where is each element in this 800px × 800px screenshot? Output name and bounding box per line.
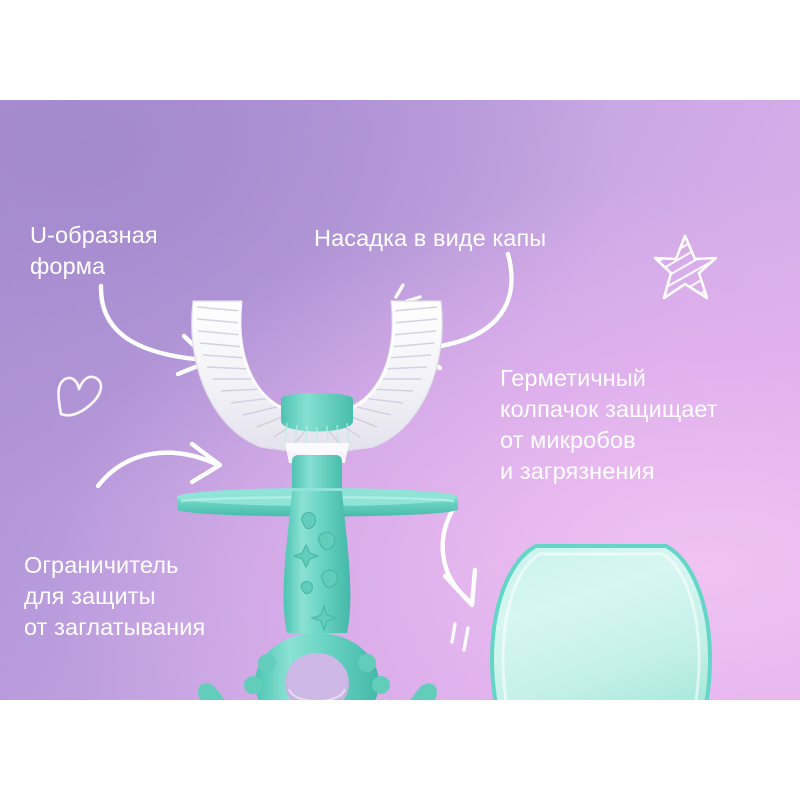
label-sealed-cap: Герметичный колпачок защищает от микробо…	[500, 363, 718, 487]
screenshot-root: U-образная форма Насадка в виде капы Гер…	[0, 0, 800, 800]
hatched-star-doodle	[652, 232, 718, 302]
label-swallow-guard: Ограничитель для защиты от заглатывания	[24, 550, 205, 643]
handle	[284, 491, 351, 633]
protective-cap	[470, 532, 732, 700]
crab-teether-ring	[198, 633, 437, 700]
heart-doodle	[52, 368, 108, 422]
toothbrush-product-image	[175, 285, 460, 700]
tongue-cleaner-pad	[281, 393, 353, 432]
product-feature-card: U-образная форма Насадка в виде капы Гер…	[0, 100, 800, 700]
label-mouthpiece: Насадка в виде капы	[314, 223, 546, 254]
label-u-shape: U-образная форма	[30, 220, 158, 282]
